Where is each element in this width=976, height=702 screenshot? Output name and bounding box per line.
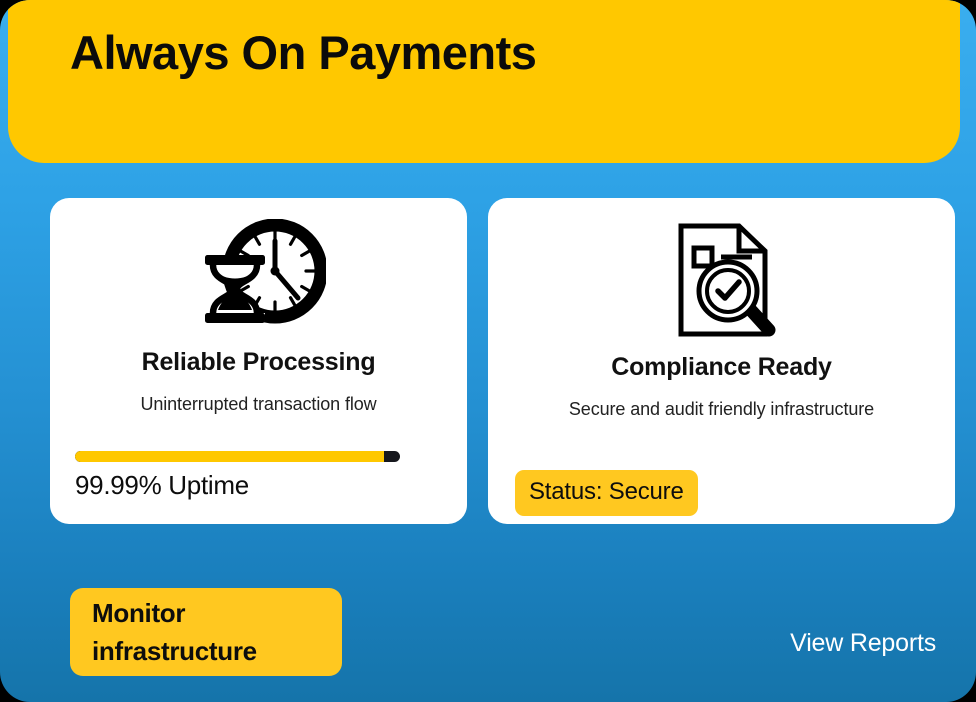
page-title: Always On Payments (70, 22, 536, 84)
document-audit-magnifier-icon (661, 220, 783, 340)
view-reports-link[interactable]: View Reports (790, 629, 936, 658)
uptime-label: 99.99% Uptime (75, 470, 249, 501)
card-subtitle: Secure and audit friendly infrastructure (569, 399, 874, 420)
feature-card-reliable-processing: Reliable Processing Uninterrupted transa… (50, 198, 467, 524)
card-subtitle: Uninterrupted transaction flow (140, 394, 376, 415)
cta-label-line1: Monitor (92, 594, 342, 632)
monitor-infrastructure-button[interactable]: Monitor infrastructure (70, 588, 342, 676)
card-title: Compliance Ready (611, 353, 831, 382)
feature-card-compliance-ready: Compliance Ready Secure and audit friend… (488, 198, 955, 524)
header-banner: Always On Payments (8, 0, 960, 163)
status-badge: Status: Secure (515, 470, 698, 516)
cta-label-line2: infrastructure (92, 632, 342, 670)
promo-card-root: Always On Payments (0, 0, 976, 702)
uptime-progress-bar (75, 451, 400, 462)
card-title: Reliable Processing (142, 348, 376, 377)
uptime-progress-fill (75, 451, 384, 462)
hourglass-clock-icon (191, 218, 326, 338)
